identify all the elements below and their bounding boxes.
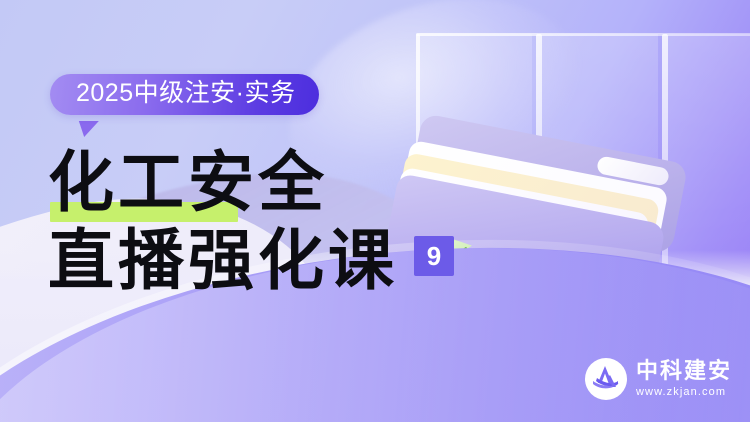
title-line-2: 直播强化课 9	[48, 228, 468, 292]
title-block: 化工安全 直播强化课 9	[48, 150, 468, 292]
logo-text-block: 中科建安 www.zkjan.com	[636, 360, 732, 398]
title-line-1-text: 化工安全	[48, 143, 328, 221]
brand-logo: 中科建安 www.zkjan.com	[585, 358, 732, 400]
course-banner: 2025中级注安·实务 化工安全 直播强化课 9 中科建安 www.zkjan.…	[0, 0, 750, 422]
logo-mark-icon	[585, 358, 627, 400]
episode-number-badge: 9	[414, 236, 454, 276]
title-line-2-text: 直播强化课	[48, 228, 398, 292]
course-category-badge: 2025中级注安·实务	[50, 74, 319, 115]
panel-top-edge	[416, 33, 750, 36]
logo-company-name: 中科建安	[636, 360, 732, 383]
badge-tail	[77, 121, 99, 137]
zkjan-logo-glyph	[586, 359, 626, 399]
title-line-1: 化工安全	[48, 150, 468, 214]
logo-website-url: www.zkjan.com	[636, 386, 726, 398]
